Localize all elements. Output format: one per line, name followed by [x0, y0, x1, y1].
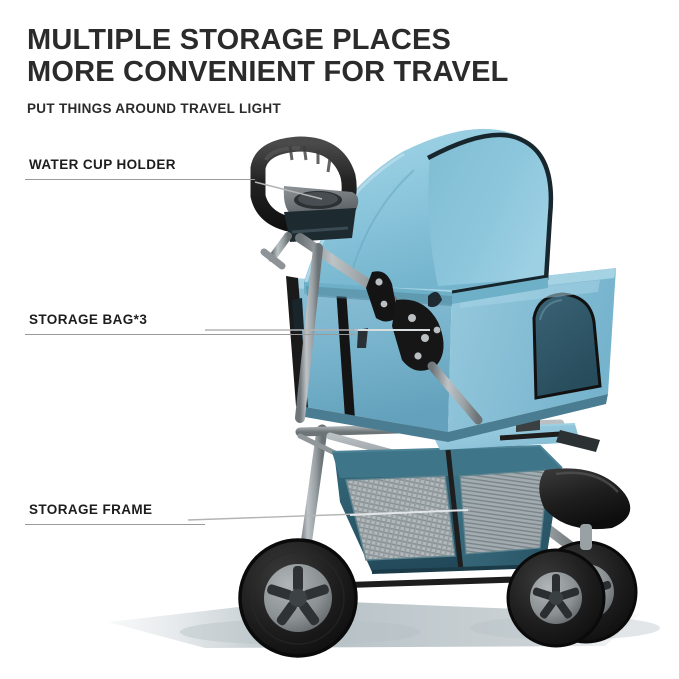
callout-label-storage-bag: STORAGE BAG*3: [25, 312, 355, 327]
callout-label-water-cup-holder: WATER CUP HOLDER: [25, 157, 255, 172]
infographic-canvas: MULTIPLE STORAGE PLACES MORE CONVENIENT …: [0, 0, 679, 679]
leader-lines: [0, 0, 679, 679]
callout-water-cup-holder: WATER CUP HOLDER: [25, 157, 255, 180]
callout-storage-frame: STORAGE FRAME: [25, 502, 205, 525]
callout-label-storage-frame: STORAGE FRAME: [25, 502, 205, 517]
leader-line-cup-holder: [255, 182, 322, 199]
callout-rule-storage-frame: [25, 524, 205, 525]
callout-rule-water-cup-holder: [25, 179, 255, 180]
callout-rule-storage-bag: [25, 334, 355, 335]
callout-storage-bag: STORAGE BAG*3: [25, 312, 355, 335]
